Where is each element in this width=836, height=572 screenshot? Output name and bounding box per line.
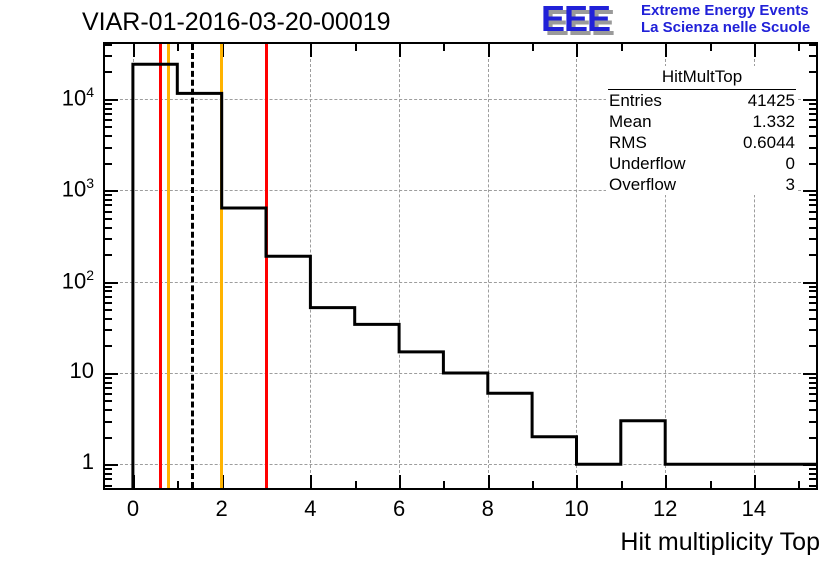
stats-row-key: Mean xyxy=(609,112,652,132)
stats-box: HitMultTop Entries41425Mean1.332RMS0.604… xyxy=(606,66,798,195)
eee-logo-line1: Extreme Energy Events xyxy=(641,2,809,19)
stats-row-key: Entries xyxy=(609,91,662,111)
stats-row-key: Overflow xyxy=(609,175,676,195)
stats-row: Overflow3 xyxy=(606,174,798,195)
stats-row-value: 41425 xyxy=(748,91,795,111)
eee-logo-mark: EEE EEE xyxy=(541,2,636,36)
stats-row-key: Underflow xyxy=(609,154,686,174)
stats-row-value: 3 xyxy=(786,175,795,195)
eee-logo-mark-front: EEE xyxy=(541,0,610,40)
stats-rows: Entries41425Mean1.332RMS0.6044Underflow0… xyxy=(606,90,798,195)
eee-logo: EEE EEE Extreme Energy Events La Scienza… xyxy=(541,2,831,40)
x-tick-label: 10 xyxy=(556,496,596,522)
y-tick-label: 10 xyxy=(70,358,94,384)
stats-row: Mean1.332 xyxy=(606,111,798,132)
x-tick-label: 4 xyxy=(290,496,330,522)
x-tick-label: 8 xyxy=(468,496,508,522)
y-tick-label: 103 xyxy=(62,175,94,202)
y-tick-label: 102 xyxy=(62,267,94,294)
x-tick-label: 6 xyxy=(379,496,419,522)
x-axis-title: Hit multiplicity Top xyxy=(620,528,820,557)
stats-row-value: 0 xyxy=(786,154,795,174)
y-tick-label: 1 xyxy=(82,449,94,475)
x-tick-label: 0 xyxy=(113,496,153,522)
stats-title: HitMultTop xyxy=(608,66,796,90)
stats-row-value: 0.6044 xyxy=(743,133,795,153)
stats-row: RMS0.6044 xyxy=(606,132,798,153)
x-tick-label: 2 xyxy=(202,496,242,522)
x-tick-label: 12 xyxy=(645,496,685,522)
stats-row: Underflow0 xyxy=(606,153,798,174)
page-title: VIAR-01-2016-03-20-00019 xyxy=(82,8,391,37)
stats-row: Entries41425 xyxy=(606,90,798,111)
stats-row-key: RMS xyxy=(609,133,647,153)
plot-canvas: VIAR-01-2016-03-20-00019 EEE EEE Extreme… xyxy=(0,0,836,572)
y-tick-label: 104 xyxy=(62,84,94,111)
eee-logo-line2: La Scienza nelle Scuole xyxy=(641,19,810,36)
x-tick-label: 14 xyxy=(734,496,774,522)
stats-row-value: 1.332 xyxy=(752,112,795,132)
